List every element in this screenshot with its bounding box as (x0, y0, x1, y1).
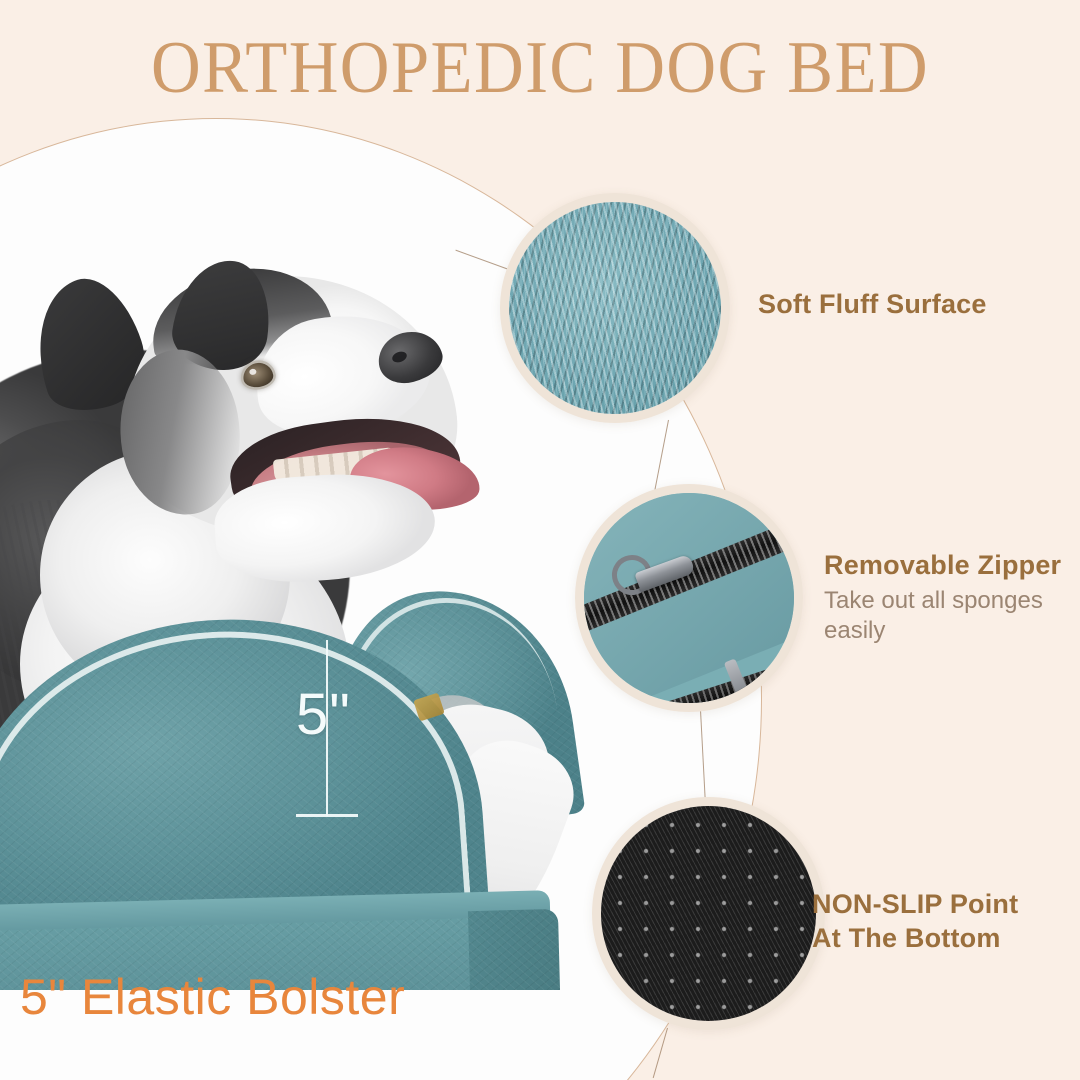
feature-label-removable-zipper: Removable Zipper Take out all sponges ea… (824, 549, 1074, 647)
feature-subtext: Take out all sponges easily (824, 586, 1074, 647)
feature-heading-line1: NON-SLIP Point (812, 888, 1018, 922)
fabric-texture (468, 909, 562, 990)
nonslip-texture-swatch (601, 806, 816, 1021)
callout-circle-removable-zipper (575, 484, 803, 712)
fluff-texture-swatch (509, 202, 721, 414)
feature-label-soft-fluff: Soft Fluff Surface (758, 288, 987, 322)
infographic-canvas: ORTHOPEDIC DOG BED (0, 0, 1080, 1080)
feature-heading-line2: At The Bottom (812, 922, 1018, 956)
feature-heading: Removable Zipper (824, 549, 1074, 583)
height-dimension-tick (296, 814, 358, 817)
height-measurement-label: 5" (296, 686, 351, 744)
bolster-caption: 5" Elastic Bolster (20, 968, 405, 1026)
feature-label-non-slip: NON-SLIP Point At The Bottom (812, 888, 1018, 956)
feature-heading: Soft Fluff Surface (758, 288, 987, 322)
zipper-closeup-swatch (584, 493, 794, 703)
page-title: ORTHOPEDIC DOG BED (38, 26, 1042, 111)
bed-mattress-side (468, 909, 562, 990)
callout-circle-non-slip (592, 797, 825, 1030)
callout-circle-soft-fluff (500, 193, 730, 423)
